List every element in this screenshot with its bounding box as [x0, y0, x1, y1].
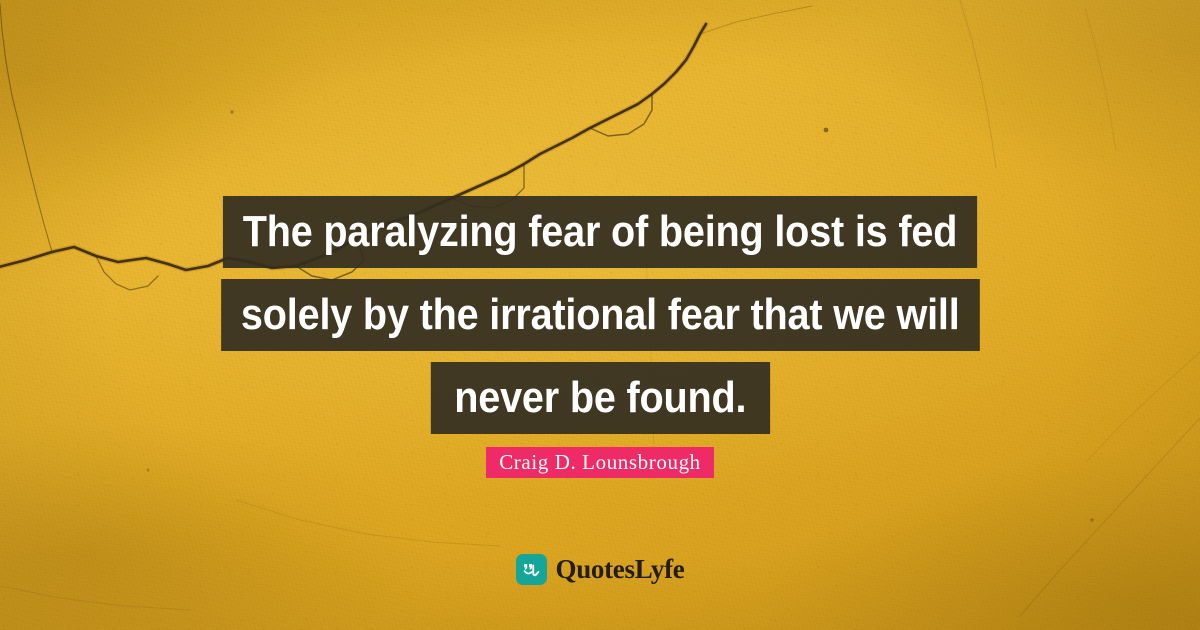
quote-card: The paralyzing fear of being lost is fed…: [0, 0, 1200, 630]
author-attribution: Craig D. Lounsbrough: [0, 447, 1200, 478]
quote-line-2: solely by the irrational fear that we wi…: [221, 279, 979, 351]
brand-logo[interactable]: QuotesLyfe: [0, 554, 1200, 585]
quote-text-block: The paralyzing fear of being lost is fed…: [0, 196, 1200, 434]
quote-smiley-icon: [516, 554, 547, 585]
quote-line-3: never be found.: [431, 362, 770, 434]
brand-name: QuotesLyfe: [556, 554, 685, 585]
quote-line-1: The paralyzing fear of being lost is fed: [223, 196, 977, 268]
author-name: Craig D. Lounsbrough: [486, 447, 714, 478]
